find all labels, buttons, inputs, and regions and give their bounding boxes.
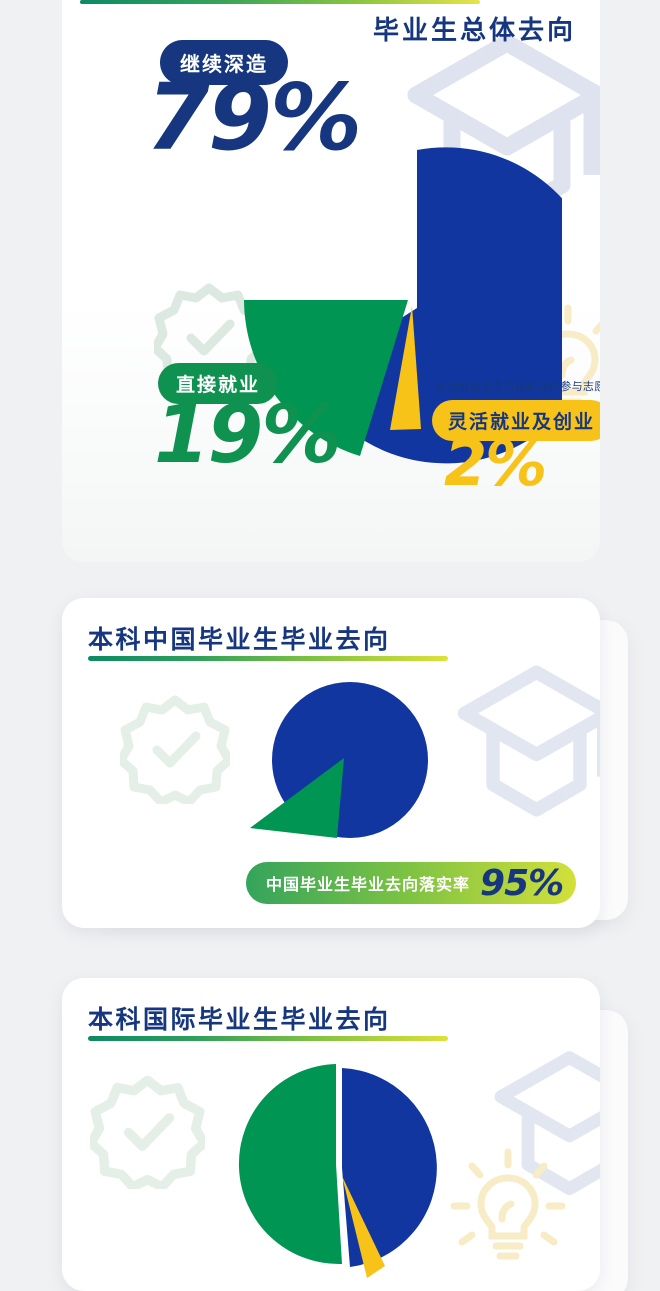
value-employment: 19% — [154, 398, 339, 472]
gradient-rule — [88, 1036, 448, 1041]
card-title: 本科中国毕业生毕业去向 — [88, 620, 391, 656]
verified-badge-icon — [120, 694, 230, 804]
value-further-study: 79% — [146, 76, 360, 161]
infographic-page: 毕业生总体去向 继续深造 79% 直接就业 19% 灵活就业包含自由职业和参与志… — [0, 0, 660, 1291]
badge-label: 中国毕业生毕业去向落实率 — [266, 871, 470, 895]
page-title: 毕业生总体去向 — [373, 10, 576, 47]
verified-badge-icon — [90, 1074, 205, 1189]
graduation-cap-icon — [392, 25, 600, 240]
pie-chart-domestic — [240, 668, 450, 888]
pie-chart-international — [230, 1056, 460, 1286]
value-flexible-employment: 2% — [444, 435, 545, 492]
card-title: 本科国际毕业生毕业去向 — [88, 1000, 391, 1036]
status-badge-placement-rate: 中国毕业生毕业去向落实率 95% — [246, 862, 576, 904]
graduation-cap-icon — [444, 658, 600, 828]
graduation-cap-icon — [482, 1044, 600, 1206]
gradient-rule — [88, 656, 448, 661]
card-international-undergrad: 本科国际毕业生毕业去向 — [62, 978, 600, 1291]
lightbulb-icon — [448, 1146, 568, 1264]
badge-value: 95% — [480, 863, 563, 904]
gradient-rule-top — [80, 0, 480, 4]
card-overall-destination: 毕业生总体去向 继续深造 79% 直接就业 19% 灵活就业包含自由职业和参与志… — [62, 0, 600, 562]
footnote-flexible-employment: 灵活就业包含自由职业和参与志愿者项目 — [436, 378, 600, 394]
